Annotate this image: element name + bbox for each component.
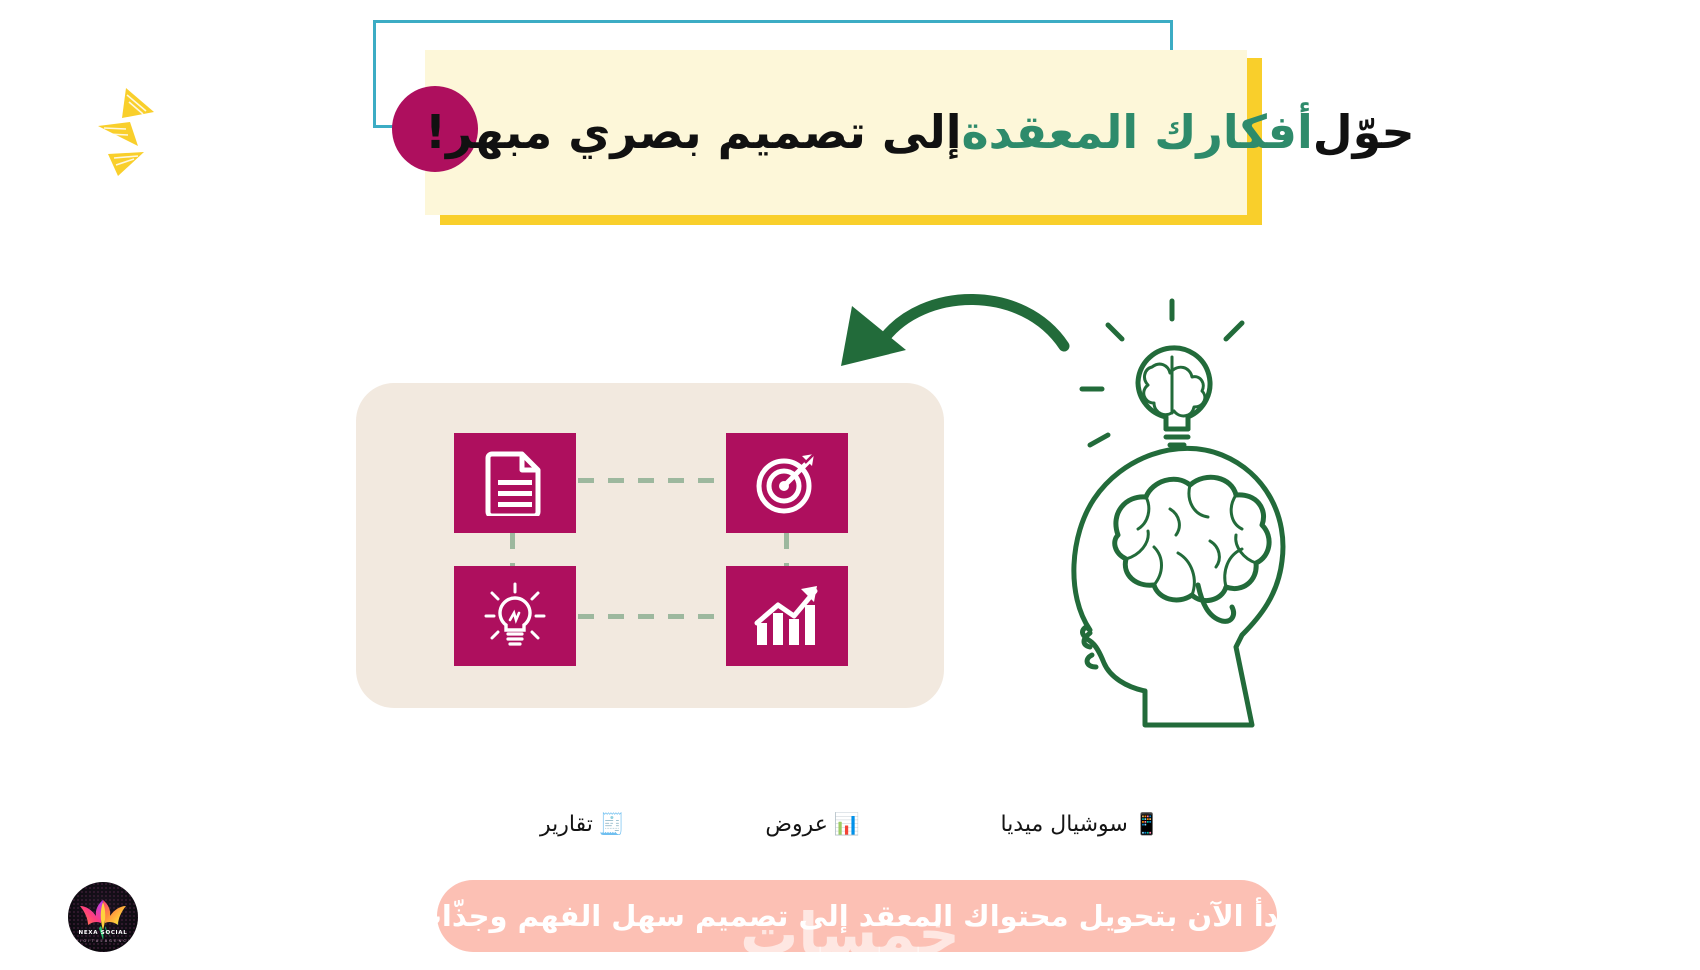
bar-chart-growth-icon: [751, 583, 823, 649]
head-brain-lightbulb-illustration: [1030, 295, 1360, 745]
diagram-tile-idea[interactable]: [454, 566, 576, 666]
page-title: حوّل أفكارك المعقدة إلى تصميم بصري مبهر!: [425, 50, 1225, 215]
slide-canvas: حوّل أفكارك المعقدة إلى تصميم بصري مبهر!: [0, 0, 1700, 970]
headline-segment-1: حوّل: [1313, 104, 1415, 162]
report-icon: 🧾: [599, 814, 625, 835]
triangle-confetti-icon: [96, 86, 166, 178]
headline-highlight: أفكارك المعقدة: [962, 104, 1313, 162]
connector-document-to-idea: [510, 533, 515, 567]
category-presentations[interactable]: 📊 عروض: [765, 812, 860, 837]
category-label: تقارير: [540, 812, 593, 837]
logo-brand-subtitle: D I G I T A L A G E N C Y: [68, 939, 138, 943]
lightbulb-icon: [482, 582, 548, 650]
connector-target-to-growth: [784, 533, 789, 567]
presentation-chart-icon: 📊: [834, 814, 860, 835]
logo-brand-name: NEXA SOCIAL: [68, 930, 138, 936]
cta-banner[interactable]: "ابدأ الآن بتحويل محتواك المعقد إلى تصمي…: [437, 880, 1277, 952]
category-label: سوشيال ميديا: [1000, 812, 1127, 837]
connector-idea-to-growth: [578, 614, 728, 619]
brand-logo[interactable]: NEXA SOCIAL D I G I T A L A G E N C Y: [68, 882, 138, 952]
category-label: عروض: [765, 812, 828, 837]
process-diagram-card: [356, 383, 944, 708]
diagram-tile-target[interactable]: [726, 433, 848, 533]
diagram-tile-growth[interactable]: [726, 566, 848, 666]
document-icon: [484, 450, 546, 516]
category-reports[interactable]: 🧾 تقارير: [540, 812, 625, 837]
category-label-row: 🧾 تقارير 📊 عروض 📱 سوشيال ميديا: [540, 802, 1160, 846]
diagram-tile-document[interactable]: [454, 433, 576, 533]
category-social-media[interactable]: 📱 سوشيال ميديا: [1000, 812, 1160, 837]
mobile-phone-icon: 📱: [1134, 814, 1160, 835]
connector-document-to-target: [578, 478, 728, 483]
target-arrow-icon: [752, 450, 822, 516]
headline-segment-2: إلى تصميم بصري مبهر!: [425, 104, 962, 162]
